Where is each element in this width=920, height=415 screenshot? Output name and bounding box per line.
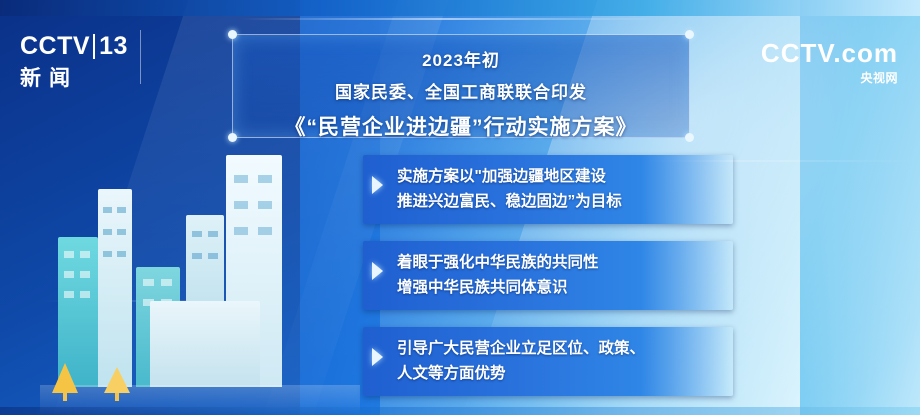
bullet-bar: 着眼于强化中华民族的共同性 增强中华民族共同体意识 xyxy=(363,241,733,310)
logo-text: CCTV xyxy=(20,32,90,60)
watermark-brand: CCTV xyxy=(761,38,833,68)
ground-glow xyxy=(40,385,360,415)
tree-icon xyxy=(52,363,78,393)
title-line-2: 国家民委、全国工商联联合印发 xyxy=(233,78,689,103)
arrow-icon xyxy=(372,348,383,366)
building xyxy=(98,189,132,387)
logo-subtitle: 新闻 xyxy=(20,68,128,89)
bullet-2-line-2: 增强中华民族共同体意识 xyxy=(397,275,723,300)
bullet-item-1: 实施方案以"加强边疆地区建设 推进兴边富民、稳边固边”为目标 xyxy=(363,155,733,224)
title-line-3: 《“民营企业进边疆”行动实施方案》 xyxy=(233,111,689,141)
tree-icon xyxy=(104,367,130,393)
building xyxy=(150,301,260,387)
cctv-watermark: CCTV.com 央视网 xyxy=(761,40,898,84)
bullet-2-line-1: 着眼于强化中华民族的共同性 xyxy=(397,250,723,275)
watermark-brand-cn: 央视网 xyxy=(761,72,898,84)
bullet-list: 实施方案以"加强边疆地区建设 推进兴边富民、稳边固边”为目标 着眼于强化中华民族… xyxy=(363,155,733,413)
corner-dot xyxy=(228,133,237,142)
corner-dot xyxy=(685,133,694,142)
city-illustration xyxy=(40,115,360,415)
decorative-line-1 xyxy=(240,18,660,20)
bullet-item-2: 着眼于强化中华民族的共同性 增强中华民族共同体意识 xyxy=(363,241,733,310)
bullet-bar: 实施方案以"加强边疆地区建设 推进兴边富民、稳边固边”为目标 xyxy=(363,155,733,224)
arrow-icon xyxy=(372,262,383,280)
bullet-3-line-1: 引导广大民营企业立足区位、政策、 xyxy=(397,336,723,361)
bullet-1-line-1: 实施方案以"加强边疆地区建设 xyxy=(397,164,723,189)
bullet-3-line-2: 人文等方面优势 xyxy=(397,361,723,386)
arrow-icon xyxy=(372,176,383,194)
top-gradient-bar xyxy=(0,0,920,16)
bullet-1-line-2: 推进兴边富民、稳边固边”为目标 xyxy=(397,189,723,214)
cctv13-logo: CCTV13 新闻 xyxy=(20,34,128,89)
bullet-bar: 引导广大民营企业立足区位、政策、 人文等方面优势 xyxy=(363,327,733,396)
corner-dot xyxy=(685,30,694,39)
logo-divider xyxy=(140,30,141,84)
watermark-domain: .com xyxy=(833,38,898,68)
logo-channel-number: 13 xyxy=(93,34,128,59)
corner-dot xyxy=(228,30,237,39)
title-line-1: 2023年初 xyxy=(233,46,689,71)
bullet-item-3: 引导广大民营企业立足区位、政策、 人文等方面优势 xyxy=(363,327,733,396)
title-plate: 2023年初 国家民委、全国工商联联合印发 《“民营企业进边疆”行动实施方案》 xyxy=(232,34,690,138)
broadcast-graphic: CCTV13 新闻 CCTV.com 央视网 2023年初 国家民委、全国工商联… xyxy=(0,0,920,415)
